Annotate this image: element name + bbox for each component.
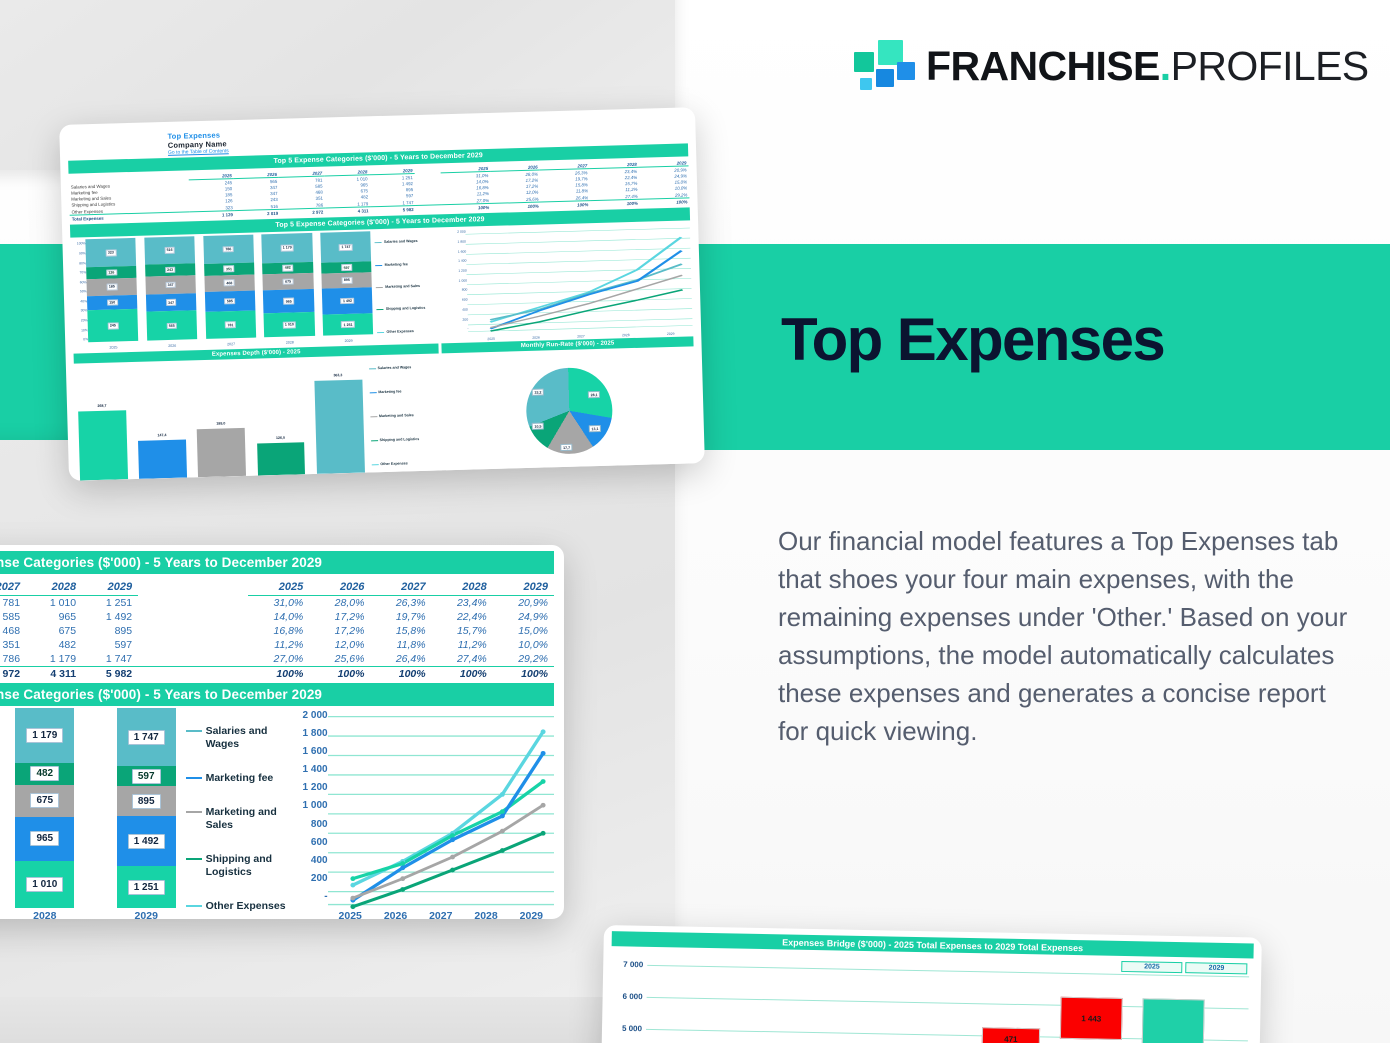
- legend-item: Other Expenses: [186, 900, 288, 913]
- x-tick: 2026: [147, 343, 197, 348]
- chart-legend: Salaries and WagesMarketing feeMarketing…: [371, 230, 448, 344]
- y-tick: 800: [450, 288, 467, 292]
- b-col-2027: 2027: [0, 579, 26, 596]
- y-tick: 90%: [71, 251, 86, 255]
- brand-dot: .: [1160, 43, 1171, 89]
- y-tick: 70%: [71, 270, 86, 274]
- x-tick: 2027: [577, 335, 585, 339]
- y-tick: -: [288, 891, 328, 902]
- y-tick: 40%: [72, 299, 87, 303]
- x-tick: 2025: [487, 337, 495, 341]
- legend-item: Shipping and Logistics: [371, 436, 441, 442]
- b-band-table-title: Top 5 Expense Categories ($'000) - 5 Yea…: [0, 551, 554, 574]
- b-stacked-column-chart: 78635146858578120271 1794826759651 01020…: [0, 708, 176, 919]
- legend-item: Shipping and Logistics: [377, 306, 447, 312]
- waterfall-y-axis: 7 0006 0005 0004 000: [609, 950, 645, 1043]
- x-tick: 2028: [622, 333, 630, 337]
- screenshot-card-overview[interactable]: Top Expenses Company Name Go to the Tabl…: [59, 107, 705, 481]
- y-tick: 200: [288, 873, 328, 884]
- x-tick: 2028: [15, 910, 74, 919]
- stacked-column-2029: 1 7475978951 4921 2512029: [320, 232, 373, 336]
- y-tick: 1 200: [450, 269, 467, 273]
- b-table-body: 5657811 0101 25131,0%28,0%26,3%23,4%20,9…: [0, 596, 554, 682]
- y-tick: 600: [451, 298, 468, 302]
- b-stack-segment: 895: [117, 786, 176, 816]
- b-chart-legend: Salaries and WagesMarketing feeMarketing…: [176, 708, 288, 919]
- y-tick: 600: [288, 837, 328, 848]
- legend-item: Marketing fee: [369, 389, 439, 395]
- x-tick: 2028: [474, 910, 497, 919]
- b-pct-col-2025: 2025: [248, 579, 309, 596]
- depth-bar: 126,0: [257, 442, 306, 476]
- stack-segment: 516: [144, 237, 195, 265]
- y-tick: 6 000: [623, 992, 643, 1001]
- stacked-column-chart: 100%90%80%70%60%50%40%30%20%10%0% 323126…: [70, 230, 447, 352]
- y-tick: 1 400: [288, 764, 328, 775]
- b-stack-segment: 597: [117, 766, 176, 786]
- legend-item: Salaries and Wages: [186, 725, 288, 750]
- background-strip-bottom: [0, 997, 700, 1043]
- expenses-pie-chart: 28,113,117,710,533,2: [442, 348, 697, 475]
- pie-graphic: 28,113,117,710,533,2: [525, 367, 613, 455]
- y-tick: 5 000: [622, 1024, 642, 1033]
- y-tick: 7 000: [623, 960, 643, 969]
- pie-label: 33,2: [532, 389, 544, 396]
- stack-segment: 150: [87, 295, 138, 311]
- y-tick: 1 000: [288, 800, 328, 811]
- bar-value: 147,4: [138, 433, 186, 438]
- depth-chart-legend: Salaries and WagesMarketing feeMarketing…: [364, 355, 441, 477]
- brand-part-1: FRANCHISE: [926, 43, 1160, 89]
- legend-item: Other Expenses: [377, 328, 447, 334]
- y-tick: 2 000: [449, 230, 466, 234]
- slide-canvas: FRANCHISE.PROFILES Top Expenses Our fina…: [0, 0, 1390, 1043]
- legend-item: Other Expenses: [371, 460, 441, 466]
- stack-segment: 347: [146, 293, 197, 312]
- legend-item: Marketing fee: [376, 261, 446, 267]
- y-tick: 60%: [71, 280, 86, 284]
- x-tick: 2027: [429, 910, 452, 919]
- b-stack-segment: 1 179: [15, 708, 74, 763]
- y-tick: 1 200: [288, 782, 328, 793]
- description-text: Our financial model features a Top Expen…: [778, 522, 1356, 750]
- stack-segment: 347: [145, 275, 196, 294]
- stack-segment: 781: [205, 311, 256, 339]
- stacked-column-2027: 7863514685857812027: [203, 235, 256, 339]
- x-tick: 2026: [532, 336, 540, 340]
- charts-row-upper: 100%90%80%70%60%50%40%30%20%10%0% 323126…: [70, 223, 693, 352]
- line-chart: 2 0001 8001 6001 4001 2001 0008006004002…: [449, 223, 694, 342]
- y-tick: 1 400: [449, 259, 466, 263]
- stacked-column-2028: 1 1794826759651 0102028: [262, 233, 315, 337]
- table-row: 5167861 1791 74727,0%25,6%26,4%27,4%29,2…: [0, 652, 554, 667]
- brand-logo: FRANCHISE.PROFILES: [852, 38, 1369, 94]
- table-row: 24335148259711,2%12,0%11,8%11,2%10,0%: [0, 638, 554, 652]
- x-tick: 2029: [117, 910, 176, 919]
- charts-row-lower: 268,7147,4189,0126,0363,3 Salaries and W…: [74, 348, 697, 481]
- logo-squares-icon: [852, 38, 912, 94]
- legend-item: Marketing and Sales: [186, 806, 288, 831]
- legend-item: Marketing fee: [186, 772, 288, 785]
- y-tick: -: [451, 327, 468, 331]
- b-band-chart-title: Top 5 Expense Categories ($'000) - 5 Yea…: [0, 683, 554, 706]
- legend-item: Marketing and Sales: [376, 283, 446, 289]
- b-expense-table: 202620272028202920252026202720282029 565…: [0, 579, 554, 681]
- stack-segment: 585: [204, 290, 255, 312]
- y-tick: 20%: [73, 318, 88, 322]
- page-title: Top Expenses: [781, 308, 1164, 371]
- y-tick: 2 000: [288, 710, 328, 721]
- pie-label: 17,7: [561, 444, 573, 451]
- b-stacked-column-2028: 1 1794826759651 0102028: [15, 708, 74, 908]
- screenshot-card-expenses-bridge[interactable]: Expenses Bridge ($'000) - 2025 Total Exp…: [601, 925, 1262, 1043]
- x-tick: 2029: [520, 910, 543, 919]
- table-row: 3475859651 49214,0%17,2%19,7%22,4%24,9%: [0, 610, 554, 624]
- stack-plot-area: 3231261851502452025516243347347565202678…: [85, 232, 373, 352]
- bar-value: 363,3: [314, 373, 362, 378]
- stack-segment: 965: [263, 289, 314, 313]
- expenses-depth-chart: 268,7147,4189,0126,0363,3 Salaries and W…: [74, 355, 442, 481]
- b-line-y-axis: 2 0001 8001 6001 4001 2001 0008006004002…: [288, 708, 328, 919]
- stacked-column-2025: 3231261851502452025: [85, 238, 138, 342]
- x-tick: 2027: [206, 342, 256, 347]
- x-tick: 2025: [339, 910, 362, 919]
- depth-bar: 189,0: [197, 428, 246, 478]
- x-tick: 2026: [384, 910, 407, 919]
- stack-segment: 245: [87, 309, 138, 342]
- y-tick: 1 600: [449, 249, 466, 253]
- y-tick: 80%: [71, 261, 86, 265]
- x-tick: 2025: [88, 345, 138, 350]
- stack-segment: 895: [322, 272, 373, 289]
- line-plot-area: 20252026202720282029: [466, 223, 694, 341]
- brand-part-2: PROFILES: [1171, 43, 1369, 89]
- depth-bar: 363,3: [314, 380, 364, 475]
- b-line-chart: 2 0001 8001 6001 4001 2001 0008006004002…: [288, 708, 554, 919]
- depth-bar: 268,7: [78, 411, 128, 481]
- b-charts-row: 78635146858578120271 1794826759651 01020…: [0, 708, 554, 919]
- y-tick: 10%: [73, 328, 88, 332]
- legend-item: Marketing and Sales: [370, 412, 440, 418]
- stack-segment: 185: [86, 277, 137, 296]
- bar-value: 189,0: [197, 421, 245, 426]
- stack-segment: 675: [263, 273, 314, 291]
- pie-label: 13,1: [589, 425, 601, 432]
- b-table-header-row: 202620272028202920252026202720282029: [0, 579, 554, 596]
- bar-value: 268,7: [78, 404, 126, 409]
- waterfall-plot-area: 7 0006 0005 0004 000 706 471 1 443: [609, 950, 1253, 1043]
- y-tick: 200: [451, 317, 468, 321]
- b-stack-segment: 482: [15, 763, 74, 785]
- stack-segment: 468: [204, 274, 255, 292]
- legend-item: Salaries and Wages: [375, 238, 445, 244]
- b-stack-segment: 1 492: [117, 816, 176, 866]
- depth-bars-area: 268,7147,4189,0126,0363,3: [74, 357, 368, 481]
- y-tick: 800: [288, 819, 328, 830]
- b-stack-segment: 1 747: [117, 708, 176, 766]
- pie-label: 28,1: [588, 391, 600, 398]
- table-row: 34746867589516,8%17,2%15,8%15,7%15,0%: [0, 624, 554, 638]
- y-tick: 1 800: [449, 240, 466, 244]
- legend-item: Salaries and Wages: [369, 365, 439, 371]
- b-col-2029: 2029: [82, 579, 138, 596]
- b-stacked-column-2029: 1 7475978951 4921 2512029: [117, 708, 176, 908]
- b-pct-col-2026: 2026: [309, 579, 370, 596]
- brand-wordmark: FRANCHISE.PROFILES: [926, 43, 1369, 90]
- b-pct-col-2029: 2029: [493, 579, 554, 596]
- x-tick: 2029: [667, 332, 675, 336]
- stack-segment: 1 492: [322, 287, 373, 314]
- stack-segment: 1 251: [323, 313, 374, 336]
- x-tick: 2028: [265, 340, 315, 345]
- b-line-plot-area: 20252026202720282029: [328, 708, 554, 919]
- stack-segment: 1 010: [264, 312, 315, 337]
- b-stack-segment: 675: [15, 785, 74, 816]
- y-tick: 400: [288, 855, 328, 866]
- b-pct-col-2027: 2027: [370, 579, 431, 596]
- y-tick: 50%: [72, 290, 87, 294]
- legend-item: Shipping and Logistics: [186, 853, 288, 878]
- x-tick: 2029: [323, 339, 373, 344]
- b-line-x-axis: 20252026202720282029: [328, 910, 554, 919]
- stack-segment: 565: [146, 311, 197, 341]
- stack-segment: 1 747: [320, 232, 371, 263]
- b-stack-segment: 965: [15, 817, 74, 862]
- b-col-2028: 2028: [26, 579, 82, 596]
- stack-segment: 323: [85, 238, 136, 267]
- stack-segment: 786: [203, 235, 254, 264]
- table-row: 5657811 0101 25131,0%28,0%26,3%23,4%20,9…: [0, 596, 554, 611]
- depth-bar: 147,4: [138, 440, 187, 479]
- b-pct-col-2028: 2028: [432, 579, 493, 596]
- waterfall-bar-total: [1141, 998, 1205, 1043]
- screenshot-card-zoom-table[interactable]: Top 5 Expense Categories ($'000) - 5 Yea…: [0, 545, 564, 919]
- bar-value: 126,0: [256, 435, 304, 440]
- y-tick: 0%: [73, 337, 88, 341]
- b-stack-segment: 1 251: [117, 866, 176, 908]
- stacked-column-2026: 5162433473475652026: [144, 237, 197, 341]
- y-tick: 1 600: [288, 746, 328, 757]
- y-tick: 100%: [70, 242, 85, 246]
- y-tick: 1 000: [450, 278, 467, 282]
- y-tick: 30%: [72, 309, 87, 313]
- stack-segment: 1 179: [262, 233, 313, 263]
- table-total-row: 2 0192 9724 3115 982100%100%100%100%100%: [0, 667, 554, 682]
- pie-label: 10,5: [532, 423, 544, 430]
- y-tick: 400: [451, 307, 468, 311]
- y-tick: 1 800: [288, 728, 328, 739]
- waterfall-bar-2: 471: [982, 1027, 1040, 1043]
- b-stack-segment: 1 010: [15, 861, 74, 908]
- waterfall-bar-3: 1 443: [1060, 997, 1123, 1040]
